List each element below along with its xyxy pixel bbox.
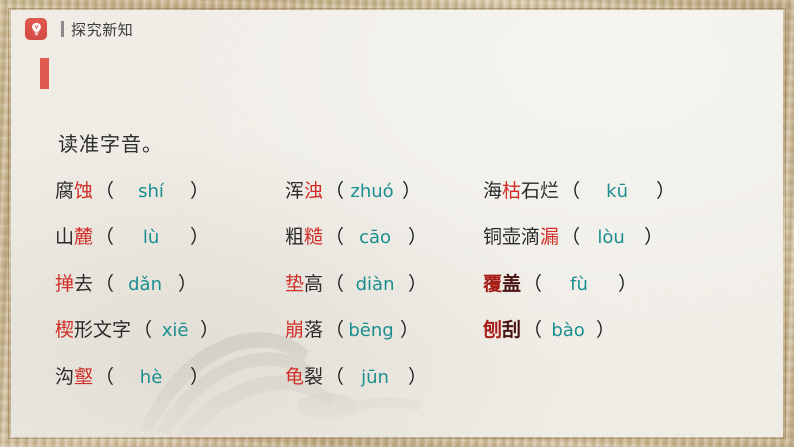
slide-header: 探究新知 [25,14,133,44]
open-paren: （ [95,368,114,387]
header-title: 探究新知 [71,19,133,40]
close-paren: ） [190,228,209,247]
close-paren: ） [596,321,615,340]
word-entry: 海枯石烂（kū） [483,182,763,201]
word-characters: 粗糙 [285,228,323,247]
character: 腐 [55,181,74,202]
open-paren: （ [95,275,114,294]
close-paren: ） [190,182,209,201]
close-paren: ） [178,275,197,294]
red-accent-bar [40,58,49,89]
word-entry: 腐蚀（shí） [55,182,285,201]
character: 浑 [285,181,304,202]
pinyin-answer: zhuó [344,183,400,201]
close-paren: ） [200,321,219,340]
slide-canvas: 探究新知 读准字音。 腐蚀（shí）浑浊（zhuó）海枯石烂（kū）山麓（lù）… [0,0,794,447]
highlighted-character: 浊 [304,181,323,202]
close-paren: ） [656,182,675,201]
open-paren: （ [95,182,114,201]
lightbulb-icon [25,18,47,40]
highlighted-character: 糙 [304,227,323,248]
close-paren: ） [408,275,427,294]
character: 高 [304,274,323,295]
highlighted-character: 枯 [502,181,521,202]
word-pinyin-grid: 腐蚀（shí）浑浊（zhuó）海枯石烂（kū）山麓（lù）粗糙（cāo）铜壶滴漏… [55,168,767,401]
header-divider [61,21,64,37]
highlighted-character: 麓 [74,227,93,248]
open-paren: （ [523,321,542,340]
close-paren: ） [644,228,663,247]
character: 山 [55,227,74,248]
character: 沟 [55,367,74,388]
highlighted-character: 漏 [540,227,559,248]
character: 烂 [540,181,559,202]
word-characters: 山麓 [55,228,93,247]
character: 去 [74,274,93,295]
close-paren: ） [408,368,427,387]
word-characters: 海枯石烂 [483,182,559,201]
word-characters: 覆盖 [483,275,521,294]
word-characters: 崩落 [285,321,323,340]
highlighted-character: 蚀 [74,181,93,202]
highlighted-character: 掸 [55,274,74,295]
pinyin-answer: bào [542,322,594,340]
pinyin-answer: jūn [344,369,406,387]
close-paren: ） [400,321,419,340]
highlighted-character: 刨 [483,320,502,341]
word-characters: 铜壶滴漏 [483,228,559,247]
word-entry: 覆盖（fù） [483,275,763,294]
character: 海 [483,181,502,202]
content-panel: 探究新知 读准字音。 腐蚀（shí）浑浊（zhuó）海枯石烂（kū）山麓（lù）… [11,10,783,437]
character: 文 [93,320,112,341]
open-paren: （ [523,275,542,294]
pinyin-answer: hè [114,369,188,387]
word-characters: 刨刮 [483,321,521,340]
pinyin-answer: shí [114,183,188,201]
word-entry: 崩落（bēng） [285,321,483,340]
highlighted-character: 壑 [74,367,93,388]
page-title: 读准字音。 [58,128,163,157]
highlighted-character: 覆 [483,274,502,295]
open-paren: （ [325,275,344,294]
pinyin-answer: diàn [344,276,406,294]
word-entry: 山麓（lù） [55,228,285,247]
word-characters: 掸去 [55,275,93,294]
close-paren: ） [402,182,421,201]
highlighted-character: 龟 [285,367,304,388]
character: 粗 [285,227,304,248]
open-paren: （ [561,182,580,201]
open-paren: （ [95,228,114,247]
word-entry: 浑浊（zhuó） [285,182,483,201]
word-characters: 腐蚀 [55,182,93,201]
open-paren: （ [133,321,152,340]
character: 落 [304,320,323,341]
character: 形 [74,320,93,341]
pinyin-answer: bēng [344,322,398,340]
word-entry: 楔形文字（xiē） [55,321,285,340]
open-paren: （ [325,368,344,387]
word-entry: 铜壶滴漏（lòu） [483,228,763,247]
open-paren: （ [325,228,344,247]
word-entry: 沟壑（hè） [55,368,285,387]
word-characters: 楔形文字 [55,321,131,340]
word-characters: 沟壑 [55,368,93,387]
word-entry: 垫高（diàn） [285,275,483,294]
character: 铜 [483,227,502,248]
pinyin-answer: xiē [152,322,198,340]
character: 滴 [521,227,540,248]
word-entry: 掸去（dǎn） [55,275,285,294]
character: 刮 [502,320,521,341]
close-paren: ） [618,275,637,294]
pinyin-answer: lòu [580,229,642,247]
close-paren: ） [408,228,427,247]
word-entry: 刨刮（bào） [483,321,763,340]
highlighted-character: 崩 [285,320,304,341]
pinyin-answer: lù [114,229,188,247]
word-characters: 龟裂 [285,368,323,387]
open-paren: （ [561,228,580,247]
open-paren: （ [325,321,344,340]
close-paren: ） [190,368,209,387]
pinyin-answer: kū [580,183,654,201]
open-paren: （ [325,182,344,201]
character: 石 [521,181,540,202]
character: 裂 [304,367,323,388]
highlighted-character: 垫 [285,274,304,295]
character: 盖 [502,274,521,295]
pinyin-answer: cāo [344,229,406,247]
pinyin-answer: dǎn [114,276,176,294]
word-entry: 龟裂（jūn） [285,368,483,387]
character: 字 [112,320,131,341]
word-characters: 垫高 [285,275,323,294]
word-characters: 浑浊 [285,182,323,201]
pinyin-answer: fù [542,276,616,294]
word-entry: 粗糙（cāo） [285,228,483,247]
highlighted-character: 楔 [55,320,74,341]
character: 壶 [502,227,521,248]
